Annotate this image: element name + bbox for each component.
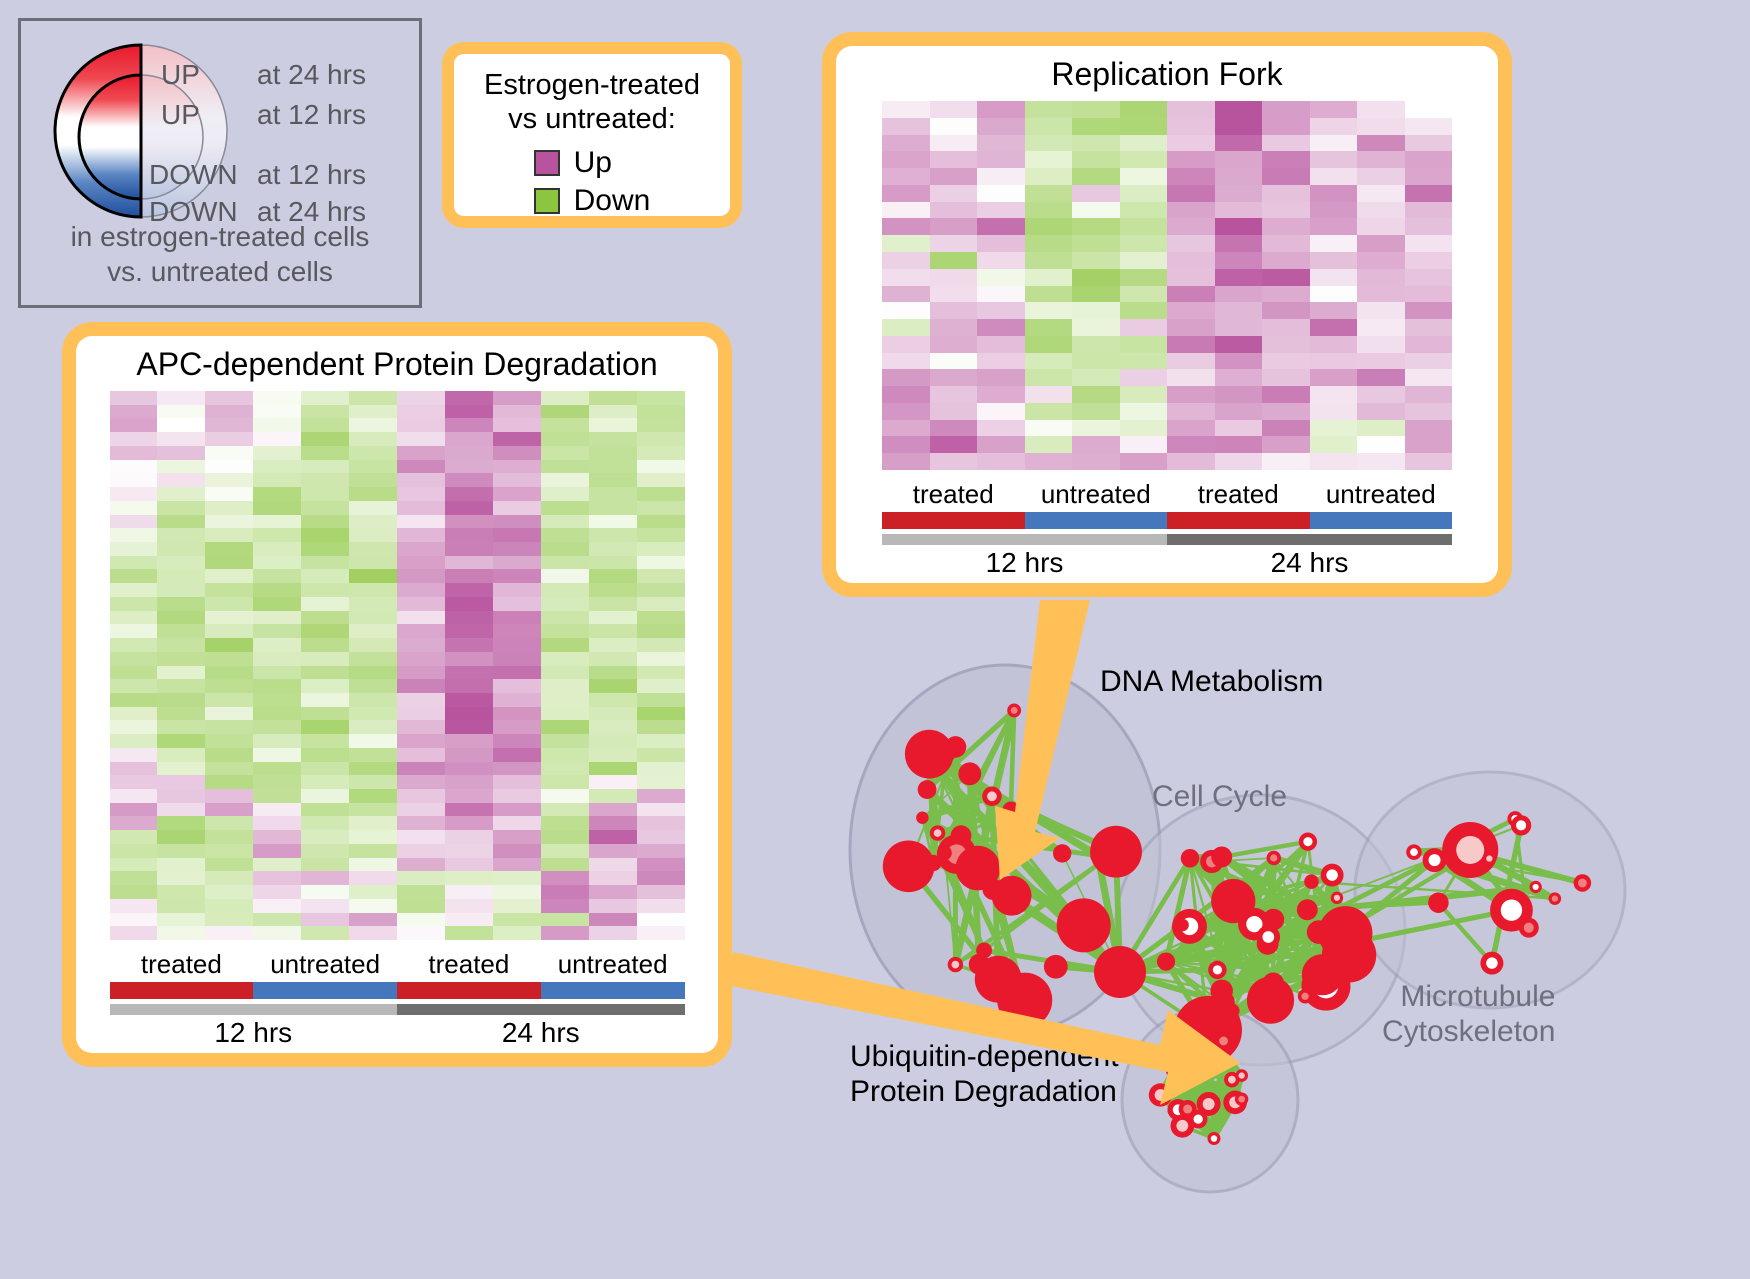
heatmap-cell (589, 638, 637, 652)
heatmap-cell (930, 403, 978, 420)
heatmap-cell (1120, 101, 1168, 118)
heatmap-cell (493, 528, 541, 542)
network-node[interactable] (925, 855, 941, 871)
heatmap-cell (1167, 185, 1215, 202)
heatmap-cell (589, 666, 637, 680)
bar-treated-24 (397, 982, 541, 999)
heatmap-cell (930, 218, 978, 235)
network-node[interactable] (1094, 946, 1146, 998)
heatmap-cell (253, 542, 301, 556)
network-node[interactable] (1442, 822, 1498, 878)
heatmap-cell (882, 135, 930, 152)
heatmap-cell (1215, 336, 1263, 353)
network-node[interactable] (982, 787, 1002, 807)
heatmap-cell (110, 885, 158, 899)
heatmap-cell (493, 391, 541, 405)
heatmap-cell (1357, 168, 1405, 185)
heatmap-cell (1215, 436, 1263, 453)
heatmap-cell (157, 597, 205, 611)
heatmap-cell (1167, 420, 1215, 437)
heatmap-cell (1405, 151, 1453, 168)
heatmap-cell (1025, 185, 1073, 202)
heatmap-cell (349, 405, 397, 419)
heatmap-cell (349, 556, 397, 570)
heatmap-cell (1357, 202, 1405, 219)
heatmap-cell (493, 871, 541, 885)
network-node[interactable] (1549, 892, 1562, 905)
heatmap-cell (977, 135, 1025, 152)
heatmap-cell (157, 899, 205, 913)
heatmap-cell (1025, 436, 1073, 453)
heatmap-cell (157, 611, 205, 625)
heatmap-cell (445, 885, 493, 899)
group-labels-apc: treated untreated treated untreated (110, 949, 685, 980)
heatmap-cell (397, 775, 445, 789)
heatmap-cell (349, 515, 397, 529)
heatmap-cell (397, 858, 445, 872)
heatmap-cell (445, 487, 493, 501)
heatmap-cell (930, 369, 978, 386)
heatmap-cell (397, 734, 445, 748)
heatmap-cell (1072, 336, 1120, 353)
heatmap-cell (1025, 453, 1073, 470)
heatmap-cell (157, 569, 205, 583)
heatmap-cell (1262, 269, 1310, 286)
heatmap-cell (445, 844, 493, 858)
heatmap-cell (493, 693, 541, 707)
heatmap-cell (253, 446, 301, 460)
heatmap-cell (637, 734, 685, 748)
heatmap-cell (1072, 101, 1120, 118)
heatmap-cell (1405, 101, 1453, 118)
heatmap-cell (589, 473, 637, 487)
heatmap-cell (301, 515, 349, 529)
heatmap-cell (1120, 386, 1168, 403)
panel-apc-dependent-protein-degradation: APC-dependent Protein Degradation treate… (62, 322, 732, 1067)
heatmap-cell (589, 679, 637, 693)
heatmap-cell (157, 720, 205, 734)
heatmap-cell (541, 446, 589, 460)
network-node[interactable] (958, 762, 981, 785)
heatmap-cell (977, 252, 1025, 269)
heatmap-cell (205, 624, 253, 638)
heatmap-cell (1025, 218, 1073, 235)
heatmap-cell (541, 789, 589, 803)
heatmap-cell (205, 515, 253, 529)
heatmap-cell (301, 858, 349, 872)
network-node[interactable] (1177, 1035, 1196, 1054)
heatmap-cell (882, 151, 930, 168)
heatmap-cell (493, 789, 541, 803)
heatmap-cell (589, 528, 637, 542)
network-node[interactable] (1179, 1100, 1197, 1118)
network-node[interactable] (969, 954, 990, 975)
heatmap-cell (1357, 118, 1405, 135)
heatmap-cell (253, 556, 301, 570)
heatmap-cell (930, 168, 978, 185)
heatmap-cell (1262, 302, 1310, 319)
network-node[interactable] (1211, 846, 1232, 867)
heatmap-cell (1167, 218, 1215, 235)
heatmap-cell (1262, 135, 1310, 152)
heatmap-cell (301, 679, 349, 693)
heatmap-cell (205, 597, 253, 611)
heatmap-cell (205, 487, 253, 501)
network-node[interactable] (1297, 899, 1318, 920)
heatmap-cell (589, 405, 637, 419)
heatmap-cell (1072, 353, 1120, 370)
heatmap-cell (157, 418, 205, 432)
network-node[interactable] (1197, 1092, 1221, 1116)
heatmap-cell (637, 542, 685, 556)
heatmap-cell (445, 679, 493, 693)
network-node[interactable] (1235, 1069, 1248, 1082)
heatmap-cell (637, 487, 685, 501)
network-node[interactable] (1215, 1032, 1233, 1050)
key-footer-line2: vs. untreated cells (21, 254, 419, 289)
group-label-treated-12: treated (882, 479, 1025, 510)
heatmap-cell (445, 720, 493, 734)
network-node[interactable] (1483, 852, 1496, 865)
network-node[interactable] (1480, 952, 1503, 975)
heatmap-cell (1167, 353, 1215, 370)
heatmap-cell (349, 775, 397, 789)
heatmap-cell (930, 319, 978, 336)
heatmap-cell (1262, 319, 1310, 336)
cluster-label-dna-metabolism: DNA Metabolism (1100, 665, 1323, 700)
heatmap-cell (930, 353, 978, 370)
heatmap-cell (541, 515, 589, 529)
heatmap-cell (445, 515, 493, 529)
heatmap-cell (205, 666, 253, 680)
heatmap-cell (541, 652, 589, 666)
heatmap-cell (1025, 235, 1073, 252)
heatmap-cell (1025, 420, 1073, 437)
heatmap-cell (157, 871, 205, 885)
heatmap-cell (157, 666, 205, 680)
heatmap-cell (541, 775, 589, 789)
heatmap-cell (445, 391, 493, 405)
heatmap-cell (1262, 353, 1310, 370)
network-node[interactable] (1257, 925, 1280, 948)
network-node[interactable] (1304, 874, 1319, 889)
heatmap-cell (397, 501, 445, 515)
network-node[interactable] (945, 736, 967, 758)
heatmap-cell (301, 460, 349, 474)
heatmap-cell (1310, 353, 1358, 370)
heatmap-cell (541, 638, 589, 652)
heatmap-cell (493, 762, 541, 776)
protein-interaction-network (790, 600, 1750, 1279)
network-node[interactable] (1428, 892, 1449, 913)
heatmap-cell (493, 473, 541, 487)
heatmap-cell (445, 528, 493, 542)
network-node[interactable] (1267, 851, 1281, 865)
network-node[interactable] (1302, 954, 1343, 995)
heatmap-cell (253, 487, 301, 501)
network-node[interactable] (1207, 1132, 1220, 1145)
heatmap-cell (977, 202, 1025, 219)
heatmap-cell (1215, 453, 1263, 470)
heatmap-cell (445, 405, 493, 419)
heatmap-cell (1215, 319, 1263, 336)
network-node[interactable] (1053, 844, 1071, 862)
heatmap-cell (445, 926, 493, 940)
heatmap-cell (1405, 252, 1453, 269)
network-node[interactable] (1530, 881, 1542, 893)
heatmap-cell (205, 871, 253, 885)
network-node[interactable] (1208, 961, 1226, 979)
heatmap-cell (301, 748, 349, 762)
heatmap-cell (205, 432, 253, 446)
heatmap-cell (1167, 369, 1215, 386)
heatmap-cell (541, 720, 589, 734)
heatmap-cell (445, 803, 493, 817)
cluster-label-microtubule-line1: Microtubule (1382, 980, 1555, 1015)
heatmap-cell (301, 446, 349, 460)
key-row-up-24: UPat 24 hrs (161, 59, 366, 91)
heatmap-cell (1167, 118, 1215, 135)
heatmap-cell (110, 487, 158, 501)
heatmap-cell (1357, 269, 1405, 286)
heatmap-cell (1405, 436, 1453, 453)
heatmap-cell (1072, 235, 1120, 252)
heatmap-cell (541, 501, 589, 515)
heatmap-cell (1357, 436, 1405, 453)
network-node[interactable] (1157, 952, 1175, 970)
heatmap-cell (397, 583, 445, 597)
heatmap-cell (541, 734, 589, 748)
network-node[interactable] (997, 973, 1052, 1028)
heatmap-cell (1025, 336, 1073, 353)
heatmap-cell (157, 803, 205, 817)
heatmap-cell (1215, 202, 1263, 219)
heatmap-cell (157, 816, 205, 830)
heatmap-cell (253, 611, 301, 625)
network-node[interactable] (1090, 848, 1105, 863)
heatmap-cell (930, 101, 978, 118)
heatmap-cell (541, 487, 589, 501)
heatmap-cell (349, 707, 397, 721)
network-node[interactable] (956, 846, 1001, 891)
heatmap-cell (977, 235, 1025, 252)
heatmap-cell (541, 432, 589, 446)
heatmap-cell (930, 185, 978, 202)
bar-untreated-12 (1025, 512, 1168, 529)
heatmap-cell (1120, 336, 1168, 353)
network-node[interactable] (1178, 1061, 1193, 1076)
heatmap-cell (1357, 151, 1405, 168)
heatmap-cell (541, 926, 589, 940)
heatmap-cell (1310, 453, 1358, 470)
heatmap-cell (1357, 135, 1405, 152)
heatmap-cell (1120, 269, 1168, 286)
heatmap-cell (541, 693, 589, 707)
group-labels-replication-fork: treated untreated treated untreated (882, 479, 1452, 510)
heatmap-cell (1262, 235, 1310, 252)
heatmap-cell (930, 269, 978, 286)
legend-swatch-down (534, 188, 560, 214)
cluster-label-ubiquitin-line2: Protein Degradation (850, 1075, 1119, 1110)
heatmap-cell (930, 286, 978, 303)
heatmap-cell (445, 611, 493, 625)
heatmap-cell (445, 775, 493, 789)
heatmap-cell (589, 556, 637, 570)
network-node[interactable] (1007, 703, 1021, 717)
heatmap-cell (1310, 369, 1358, 386)
network-node[interactable] (1406, 844, 1422, 860)
heatmap-cell (253, 844, 301, 858)
heatmap-cell (1357, 185, 1405, 202)
treatment-color-bar-apc (110, 982, 685, 999)
heatmap-cell (110, 569, 158, 583)
network-node[interactable] (1318, 906, 1372, 960)
network-node[interactable] (1235, 1092, 1248, 1105)
heatmap-cell (1072, 369, 1120, 386)
heatmap-cell (882, 286, 930, 303)
network-node[interactable] (930, 825, 945, 840)
heatmap-cell (589, 775, 637, 789)
network-node[interactable] (1511, 815, 1531, 835)
heatmap-cell (977, 453, 1025, 470)
heatmap-cell (977, 302, 1025, 319)
heatmap-cell (1405, 403, 1453, 420)
heatmap-cell (1310, 235, 1358, 252)
heatmap-cell (349, 638, 397, 652)
heatmap-cell (637, 720, 685, 734)
heatmap-cell (882, 386, 930, 403)
heatmap-cell (637, 803, 685, 817)
key-label-up-24: UP (161, 59, 257, 91)
heatmap-cell (589, 816, 637, 830)
heatmap-cell (637, 762, 685, 776)
heatmap-cell (397, 597, 445, 611)
legend-title: Estrogen-treated vs untreated: (484, 68, 700, 136)
heatmap-cell (1357, 101, 1405, 118)
heatmap-cell (637, 926, 685, 940)
network-node[interactable] (1149, 1083, 1172, 1106)
network-node[interactable] (1211, 879, 1255, 923)
network-node[interactable] (1298, 989, 1313, 1004)
network-node[interactable] (1057, 898, 1111, 952)
heatmap-cell (637, 624, 685, 638)
heatmap-cell (397, 871, 445, 885)
heatmap-cell (1215, 118, 1263, 135)
heatmap-cell (1310, 319, 1358, 336)
key-time-down-12: at 12 hrs (257, 159, 366, 190)
network-node[interactable] (1247, 977, 1294, 1024)
heatmap-cell (589, 885, 637, 899)
heatmap-cell (1120, 202, 1168, 219)
heatmap-cell (1357, 386, 1405, 403)
network-node[interactable] (948, 957, 963, 972)
network-node[interactable] (1331, 892, 1343, 904)
heatmap-cell (205, 858, 253, 872)
heatmap-cell (493, 926, 541, 940)
network-node[interactable] (905, 730, 954, 779)
heatmap-cell (110, 926, 158, 940)
heatmap-cell (205, 542, 253, 556)
network-node[interactable] (1574, 874, 1592, 892)
heatmap-cell (1405, 453, 1453, 470)
heatmap-cell (1357, 403, 1405, 420)
network-node[interactable] (1321, 864, 1344, 887)
heatmap-cell (445, 473, 493, 487)
network-node[interactable] (1002, 802, 1019, 819)
heatmap-cell (110, 391, 158, 405)
heatmap-cell (349, 432, 397, 446)
heatmap-cell (157, 844, 205, 858)
heatmap-cell (1072, 453, 1120, 470)
heatmap-cell (1025, 269, 1073, 286)
network-node[interactable] (1044, 955, 1068, 979)
heatmap-cell (637, 528, 685, 542)
heatmap-cell (349, 597, 397, 611)
heatmap-cell (1215, 101, 1263, 118)
heatmap-cell (637, 638, 685, 652)
network-node[interactable] (1299, 833, 1317, 851)
heatmap-cell (253, 432, 301, 446)
heatmap-cell (1357, 252, 1405, 269)
group-label-treated-24: treated (1167, 479, 1310, 510)
heatmap-cell (349, 720, 397, 734)
heatmap-cell (637, 871, 685, 885)
heatmap-cell (349, 803, 397, 817)
heatmap-cell (493, 611, 541, 625)
heatmap-cell (493, 460, 541, 474)
heatmap-cell (301, 597, 349, 611)
heatmap-cell (637, 473, 685, 487)
bar-time-24 (1167, 534, 1452, 545)
bar-time-12 (882, 534, 1167, 545)
heatmap-cell (1072, 151, 1120, 168)
network-node[interactable] (916, 812, 928, 824)
heatmap-cell (1357, 353, 1405, 370)
heatmap-cell (541, 666, 589, 680)
heatmap-cell (157, 885, 205, 899)
heatmap-cell (253, 762, 301, 776)
heatmap-cell (205, 693, 253, 707)
legend-label-down: Down (574, 184, 651, 218)
heatmap-cell (205, 611, 253, 625)
heatmap-cell (349, 734, 397, 748)
heatmap-cell (930, 118, 978, 135)
network-node[interactable] (1181, 849, 1200, 868)
heatmap-cell (349, 844, 397, 858)
heatmap-cell (1120, 286, 1168, 303)
network-node[interactable] (1176, 919, 1189, 932)
heatmap-cell (1310, 118, 1358, 135)
heatmap-cell (589, 611, 637, 625)
heatmap-cell (541, 816, 589, 830)
heatmap-cell (1215, 151, 1263, 168)
heatmap-cell (589, 391, 637, 405)
bar-treated-12 (110, 982, 254, 999)
heatmap-cell (349, 816, 397, 830)
heatmap-cell (930, 135, 978, 152)
heatmap-cell (445, 556, 493, 570)
heatmap-cell (1025, 151, 1073, 168)
heatmap-cell (349, 624, 397, 638)
heatmap-cell (882, 235, 930, 252)
bar-treated-24 (1167, 512, 1310, 529)
heatmap-cell (205, 734, 253, 748)
heatmap-cell (882, 336, 930, 353)
network-node[interactable] (918, 780, 937, 799)
network-node[interactable] (1519, 918, 1539, 938)
group-label-untreated-24: untreated (541, 949, 685, 980)
time-color-bar-replication-fork (882, 534, 1452, 545)
